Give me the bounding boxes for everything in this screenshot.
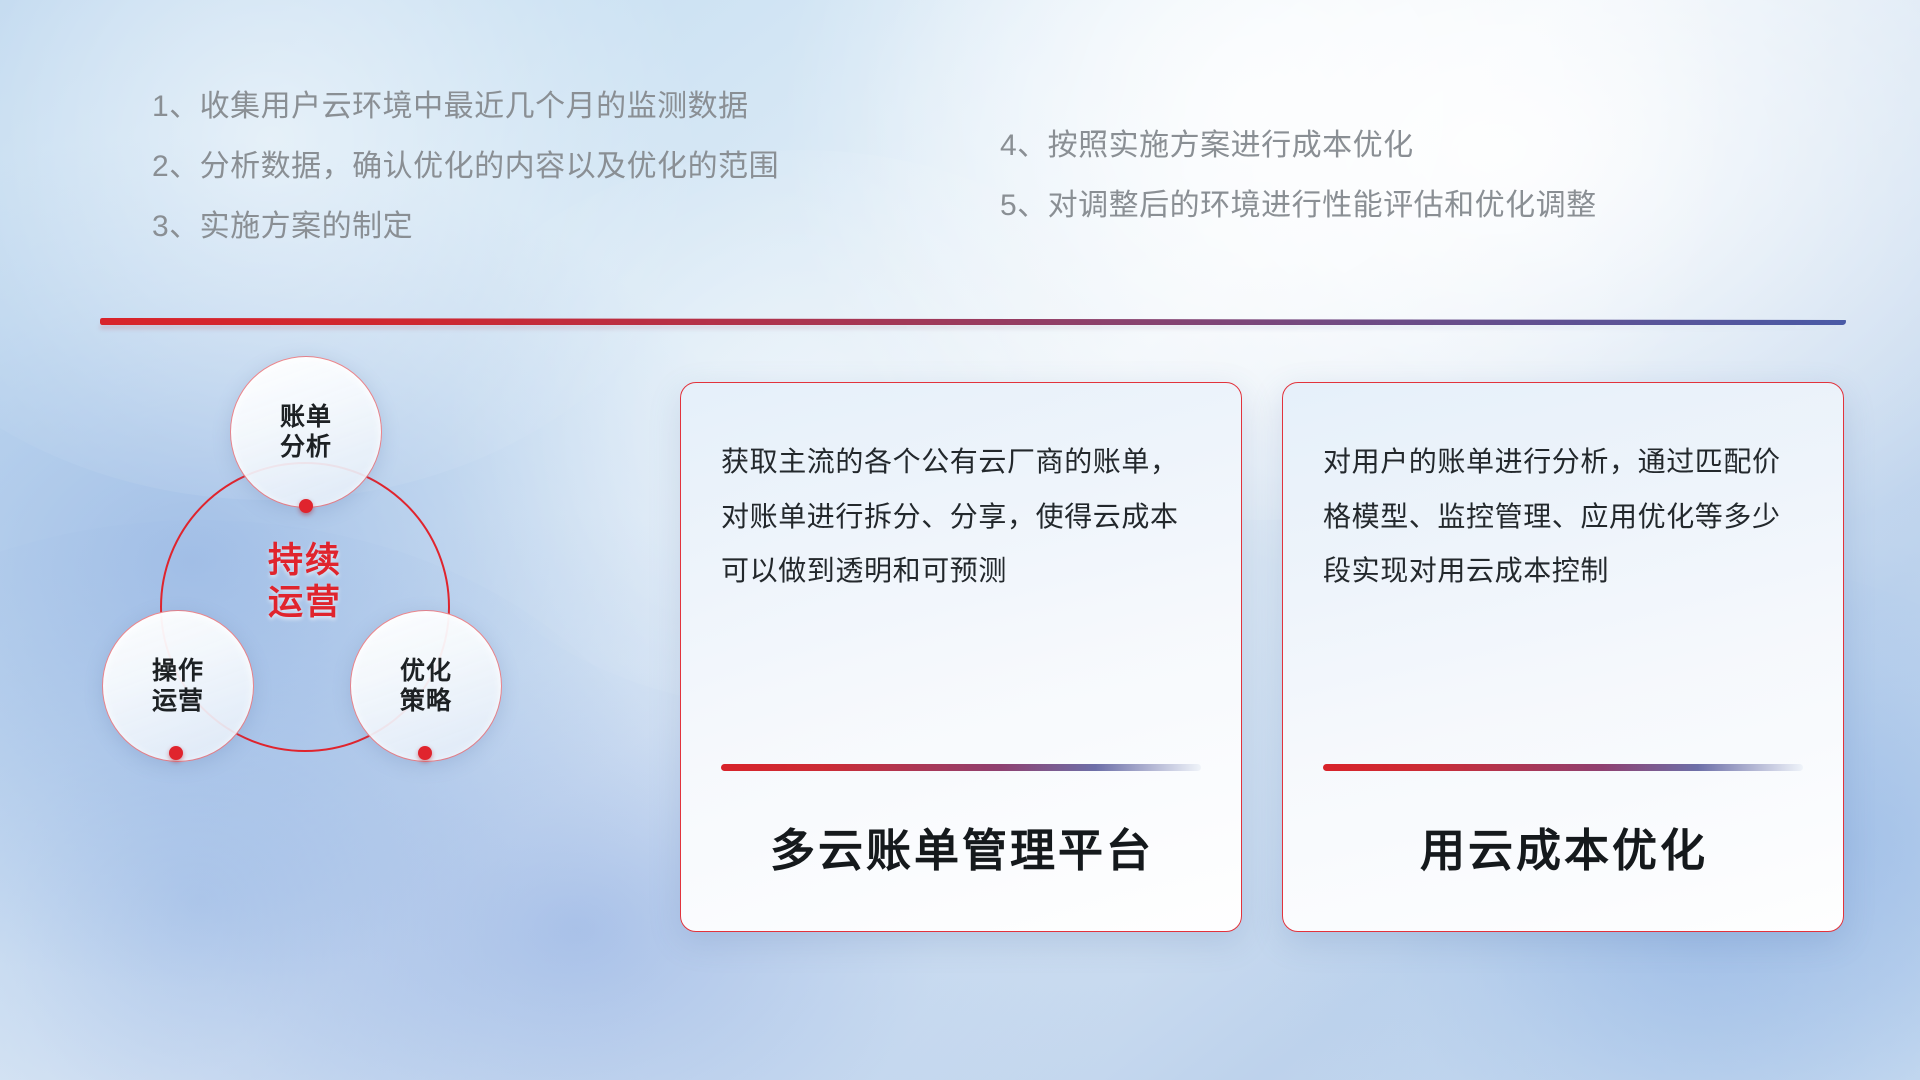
step-list-left-column: 1、收集用户云环境中最近几个月的监测数据 2、分析数据，确认优化的内容以及优化的… — [152, 92, 779, 272]
card-title: 用云成本优化 — [1323, 814, 1805, 879]
step-item-2: 2、分析数据，确认优化的内容以及优化的范围 — [152, 152, 779, 182]
diagram-node-operations[interactable]: 操作 运营 — [102, 610, 254, 762]
step-item-1: 1、收集用户云环境中最近几个月的监测数据 — [152, 92, 779, 122]
connector-dot-top — [299, 499, 313, 513]
card-accent-rule — [1323, 764, 1803, 771]
card-body-text: 获取主流的各个公有云厂商的账单，对账单进行拆分、分享，使得云成本可以做到透明和可… — [721, 435, 1201, 685]
step-item-5: 5、对调整后的环境进行性能评估和优化调整 — [1000, 191, 1597, 221]
diagram-node-optimization-strategy[interactable]: 优化 策略 — [350, 610, 502, 762]
node-label-line-2: 分析 — [280, 432, 332, 463]
node-label-line-2: 策略 — [400, 686, 452, 717]
section-divider — [100, 318, 1846, 325]
node-label-line-1: 优化 — [400, 656, 452, 687]
center-label-line-1: 持续 — [160, 540, 450, 582]
connector-dot-bottom-right — [418, 746, 432, 760]
card-title: 多云账单管理平台 — [721, 814, 1203, 879]
divider-shadow — [100, 325, 1846, 329]
slide-canvas: 1、收集用户云环境中最近几个月的监测数据 2、分析数据，确认优化的内容以及优化的… — [0, 0, 1920, 1080]
step-item-4: 4、按照实施方案进行成本优化 — [1000, 131, 1597, 161]
step-item-3: 3、实施方案的制定 — [152, 212, 779, 242]
node-label: 优化 策略 — [400, 656, 452, 717]
node-label-line-1: 操作 — [152, 656, 204, 687]
diagram-node-bill-analysis[interactable]: 账单 分析 — [230, 356, 382, 508]
card-body-text: 对用户的账单进行分析，通过匹配价格模型、监控管理、应用优化等多少段实现对用云成本… — [1323, 435, 1803, 685]
info-card-cloud-cost-optimization[interactable]: 对用户的账单进行分析，通过匹配价格模型、监控管理、应用优化等多少段实现对用云成本… — [1282, 382, 1844, 932]
node-label: 账单 分析 — [280, 402, 332, 463]
node-label: 操作 运营 — [152, 656, 204, 717]
node-label-line-2: 运营 — [152, 686, 204, 717]
card-accent-rule — [721, 764, 1201, 771]
process-step-list: 1、收集用户云环境中最近几个月的监测数据 2、分析数据，确认优化的内容以及优化的… — [0, 92, 1920, 282]
continuous-operations-diagram: 持续 运营 账单 分析 操作 运营 优化 策略 — [100, 360, 570, 920]
connector-dot-bottom-left — [169, 746, 183, 760]
step-list-right-column: 4、按照实施方案进行成本优化 5、对调整后的环境进行性能评估和优化调整 — [1000, 131, 1597, 251]
node-label-line-1: 账单 — [280, 402, 332, 433]
info-card-multicloud-billing[interactable]: 获取主流的各个公有云厂商的账单，对账单进行拆分、分享，使得云成本可以做到透明和可… — [680, 382, 1242, 932]
